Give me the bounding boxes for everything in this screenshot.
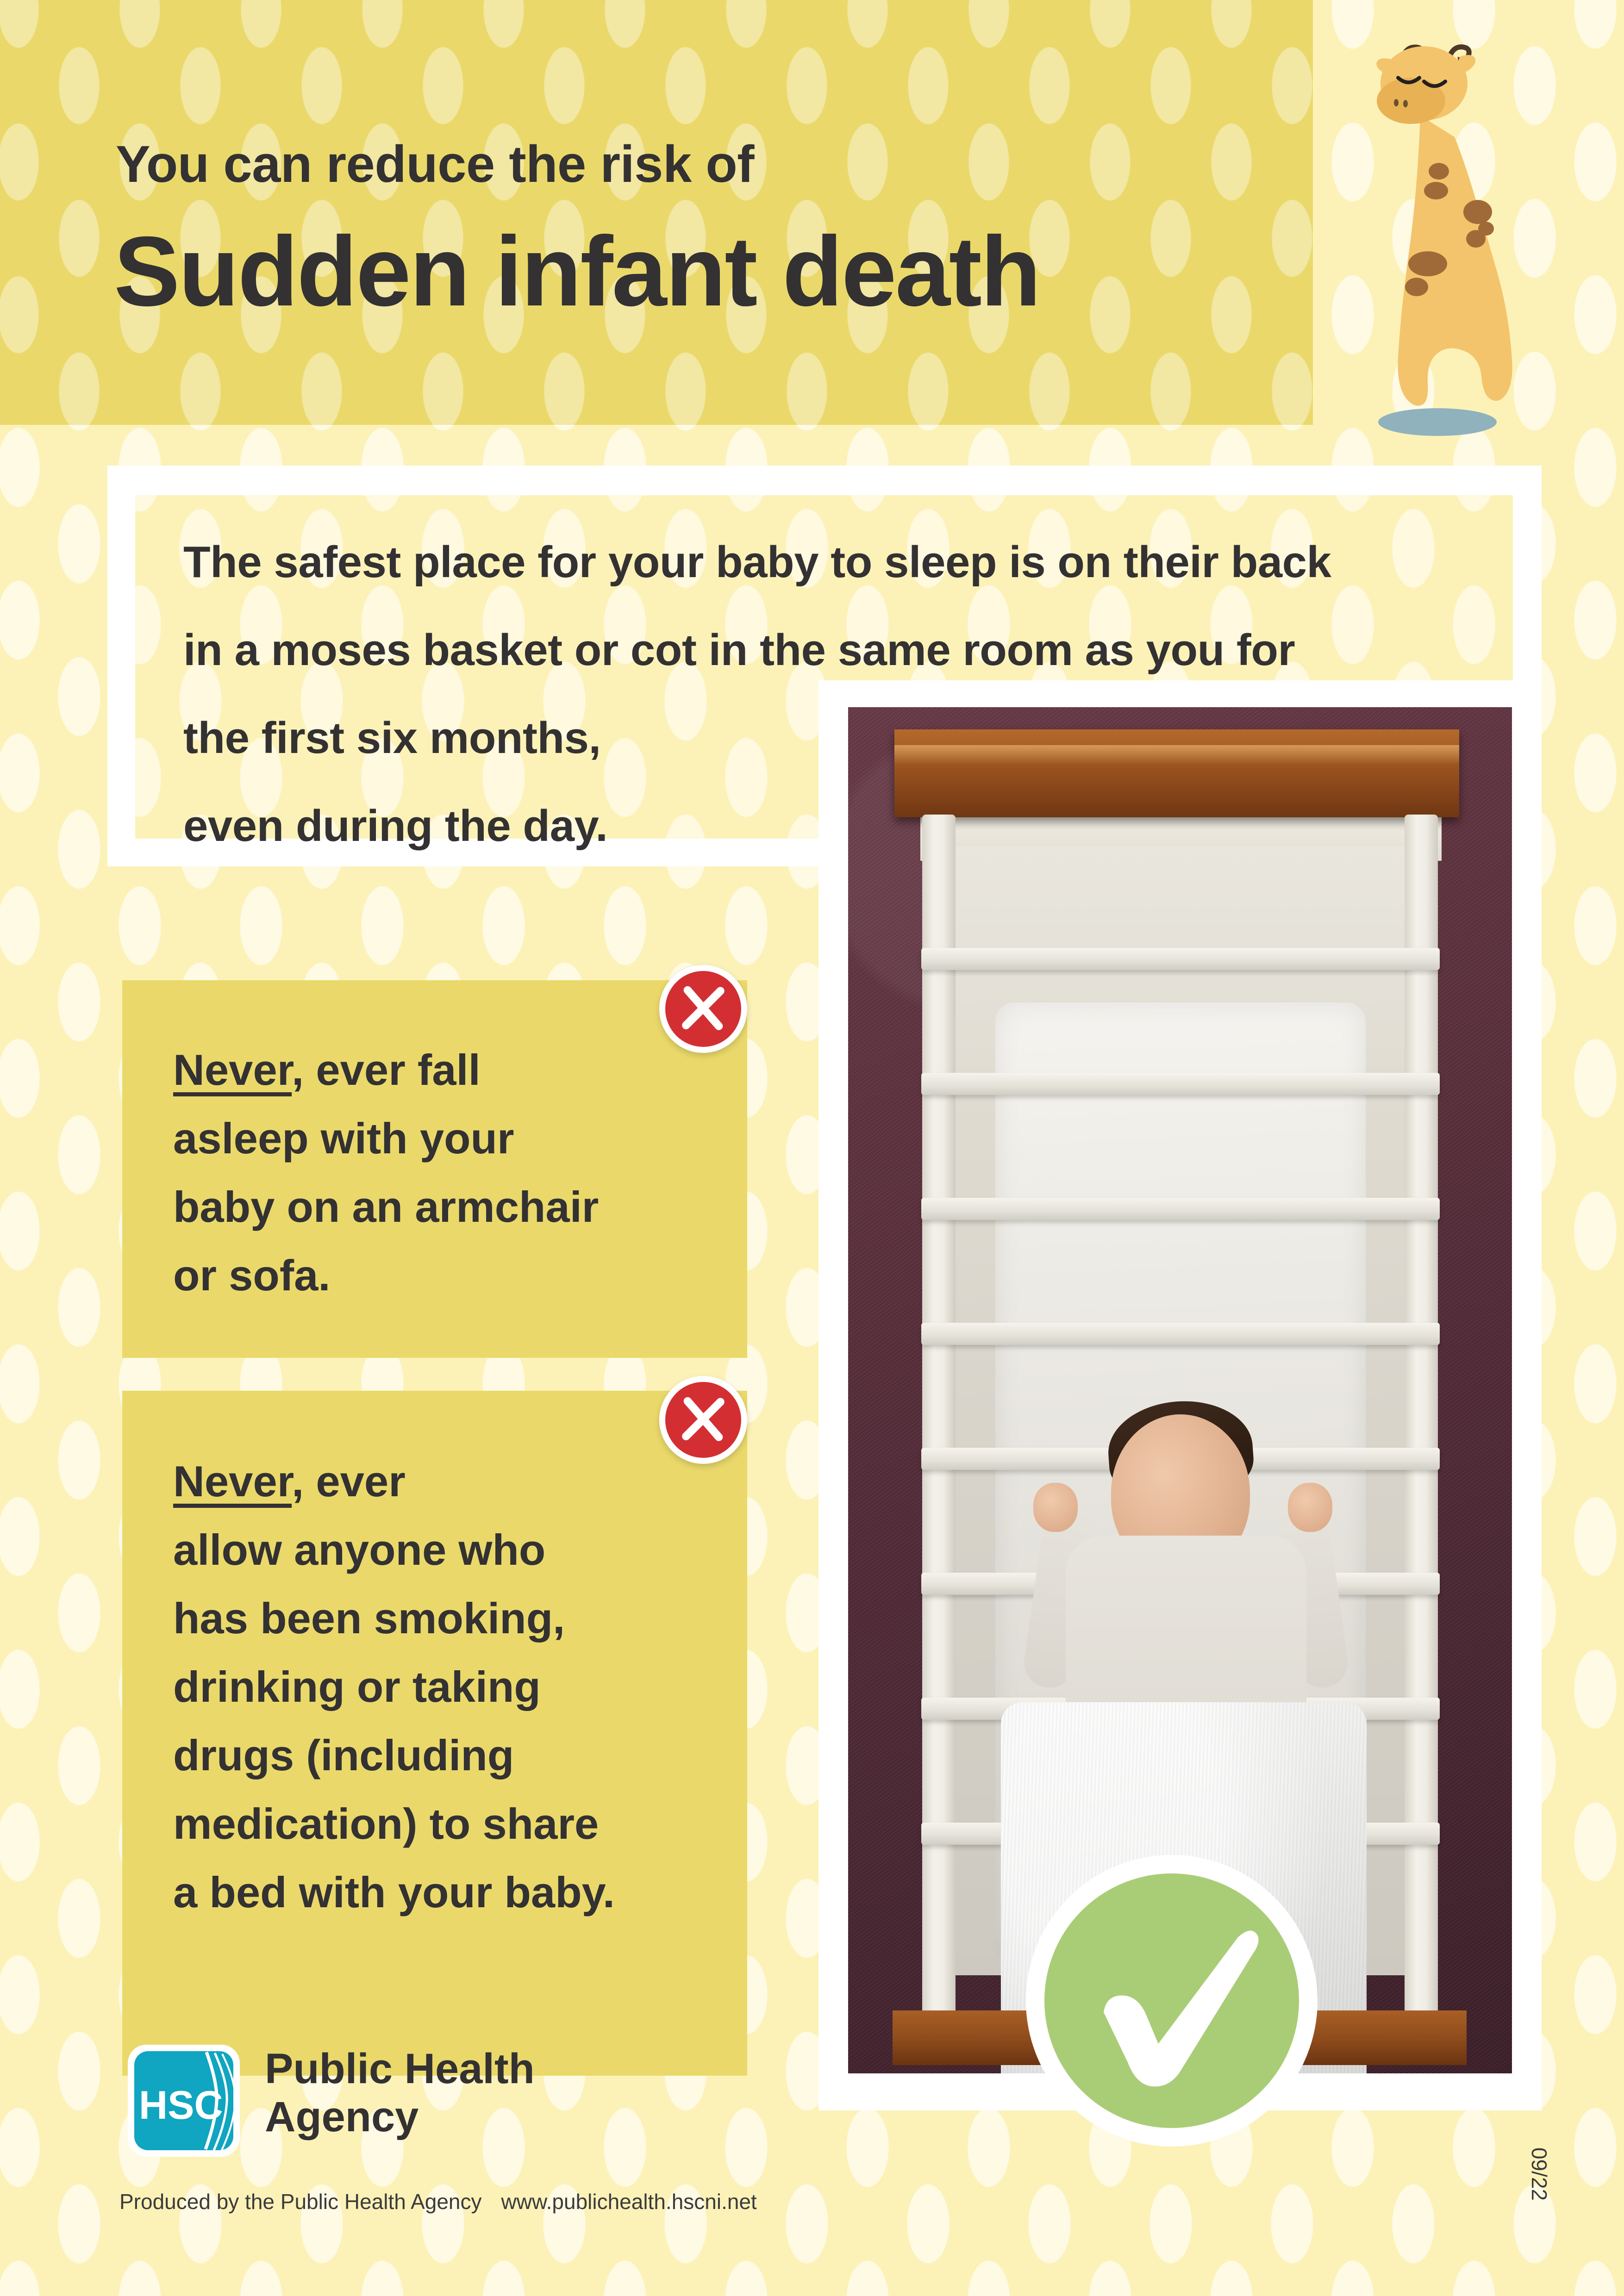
header-banner — [0, 0, 1313, 425]
x-cross-icon — [659, 1376, 747, 1464]
x-cross-icon — [659, 965, 747, 1053]
website-url[interactable]: www.publichealth.hscni.net — [501, 2190, 757, 2214]
baby-hand-right — [1288, 1483, 1332, 1532]
warning-line: baby on an armchair — [173, 1173, 747, 1241]
produced-by-text: Produced by the Public Health Agency — [119, 2190, 482, 2214]
cot-slat — [921, 1198, 1440, 1220]
warning-line: Never, ever — [173, 1447, 747, 1516]
warning-line: drugs (including — [173, 1721, 747, 1790]
warning-line: or sofa. — [173, 1241, 747, 1310]
warning-line-text: , ever — [292, 1457, 406, 1506]
organisation-line-2: Agency — [265, 2093, 535, 2141]
header-kicker: You can reduce the risk of — [116, 134, 754, 194]
warning-line: Never, ever fall — [173, 1036, 747, 1104]
organisation-name: Public Health Agency — [265, 2045, 535, 2141]
warning-line-text: , ever fall — [292, 1045, 481, 1094]
never-emphasis: Never — [173, 1457, 292, 1506]
baby-hand-left — [1033, 1483, 1078, 1532]
cot-slat — [921, 1073, 1440, 1095]
cot-post-left — [922, 815, 956, 2041]
produced-by-line: Produced by the Public Health Agencywww.… — [119, 2189, 757, 2214]
poster-root: You can reduce the risk of Sudden infant… — [0, 0, 1624, 2296]
warning-box-armchair: Never, ever fall asleep with your baby o… — [122, 980, 747, 1358]
cot-slat — [921, 1323, 1440, 1345]
warning-box-bedsharing: Never, ever allow anyone who has been sm… — [122, 1391, 747, 2076]
hsc-logo: HSC — [124, 2041, 244, 2160]
giraffe-icon — [1333, 23, 1537, 440]
cot-post-right — [1405, 815, 1438, 2041]
warning-line: medication) to share — [173, 1790, 747, 1858]
organisation-line-1: Public Health — [265, 2045, 535, 2093]
cot-wooden-top-rail — [894, 729, 1459, 817]
check-tick-icon — [1026, 1855, 1318, 2147]
never-emphasis: Never — [173, 1045, 292, 1094]
intro-line-1: The safest place for your baby to sleep … — [183, 518, 1507, 606]
cot-slat — [921, 948, 1440, 970]
warning-line: allow anyone who — [173, 1516, 747, 1584]
warning-line: asleep with your — [173, 1104, 747, 1173]
warning-line: a bed with your baby. — [173, 1858, 747, 1927]
header-dot-pattern-offset — [0, 0, 1313, 425]
edition-code: 09/22 — [1527, 2147, 1552, 2201]
svg-text:HSC: HSC — [139, 2083, 223, 2128]
warning-line: drinking or taking — [173, 1653, 747, 1721]
warning-line: has been smoking, — [173, 1584, 747, 1653]
page-title: Sudden infant death — [114, 222, 1040, 321]
